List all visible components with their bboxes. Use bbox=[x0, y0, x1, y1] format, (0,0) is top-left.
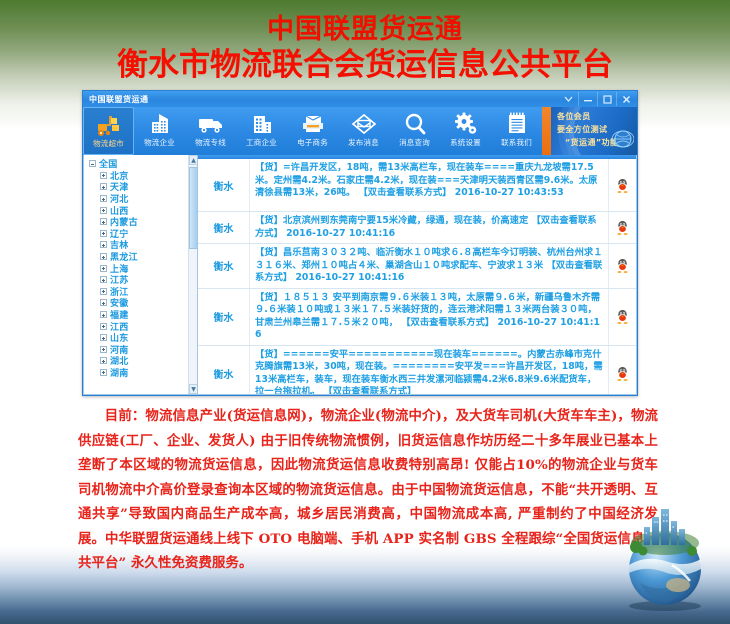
city-globe-graphic bbox=[610, 507, 720, 612]
close-icon[interactable] bbox=[616, 92, 635, 106]
envelope-icon bbox=[351, 110, 377, 137]
tree-expander-icon[interactable] bbox=[100, 253, 107, 260]
row-city: 衡水 bbox=[198, 289, 250, 345]
row-timestamp: 2016-10-27 10:41:16 bbox=[286, 228, 395, 239]
tree-expander-icon[interactable] bbox=[89, 160, 96, 167]
toolbar-item-logistics-market[interactable]: 物流超市 bbox=[83, 107, 134, 155]
region-tree-list: 全国 北京 天津 河北 山西 内蒙古 辽宁 吉林 黑龙江 上海 江苏 浙江 安徽… bbox=[84, 155, 197, 378]
scroll-down-icon[interactable]: ▼ bbox=[189, 384, 198, 394]
row-message: 【货】北京滨州到东莞南宁要15米冷藏，绿通，现在装，价高速定 【双击查看联系方式… bbox=[250, 212, 608, 243]
toolbar-item-system-settings[interactable]: 系统设置 bbox=[440, 107, 491, 155]
row-city: 衡水 bbox=[198, 212, 250, 243]
tree-node-shanghai[interactable]: 上海 bbox=[86, 262, 197, 274]
table-row[interactable]: 衡水 【货】======安平===========现在装车======。内蒙古赤… bbox=[198, 346, 636, 396]
tree-expander-icon[interactable] bbox=[100, 195, 107, 202]
qq-penguin-icon[interactable] bbox=[608, 346, 636, 396]
minimize-icon[interactable] bbox=[578, 92, 597, 106]
toolbar-item-publish-message[interactable]: 发布消息 bbox=[338, 107, 389, 155]
table-row[interactable]: 衡水 【货】北京滨州到东莞南宁要15米冷藏，绿通，现在装，价高速定 【双击查看联… bbox=[198, 212, 636, 244]
qq-penguin-icon[interactable] bbox=[608, 289, 636, 345]
scroll-up-icon[interactable]: ▲ bbox=[189, 155, 198, 165]
tree-expander-icon[interactable] bbox=[100, 183, 107, 190]
tree-node-jiangsu[interactable]: 江苏 bbox=[86, 274, 197, 286]
tree-node-zhejiang[interactable]: 浙江 bbox=[86, 286, 197, 298]
window-title-bar[interactable]: 中国联盟货运通 bbox=[83, 91, 637, 107]
message-grid: 衡水 【货】=许昌开发区，18吨，需13米高栏车，现在装车====重庆九龙坡需1… bbox=[198, 155, 637, 395]
window-controls bbox=[559, 91, 635, 107]
window-body: 全国 北京 天津 河北 山西 内蒙古 辽宁 吉林 黑龙江 上海 江苏 浙江 安徽… bbox=[83, 155, 637, 395]
tree-node-hubei[interactable]: 湖北 bbox=[86, 355, 197, 367]
headline-line-1: 中国联盟货运通 bbox=[0, 14, 730, 46]
toolbar-item-label: 电子商务 bbox=[297, 138, 328, 148]
truck-icon bbox=[198, 110, 224, 137]
tree-expander-icon[interactable] bbox=[100, 288, 107, 295]
toolbar-item-label: 系统设置 bbox=[450, 138, 481, 148]
headline-line-2: 衡水市物流联合会货运信息公共平台 bbox=[0, 46, 730, 84]
tree-node-inner-mongolia[interactable]: 内蒙古 bbox=[86, 216, 197, 228]
row-message: 【货】１８５１３ 安平到南京需９.６米装１３吨，太原需９.６米，新疆乌鲁木齐需９… bbox=[250, 289, 608, 345]
scrollbar-thumb[interactable] bbox=[189, 167, 198, 249]
tree-node-anhui[interactable]: 安徽 bbox=[86, 297, 197, 309]
toolbar-item-label: 消息查询 bbox=[399, 138, 430, 148]
tree-node-hunan[interactable]: 湖南 bbox=[86, 367, 197, 379]
toolbar-item-message-query[interactable]: 消息查询 bbox=[389, 107, 440, 155]
qq-penguin-icon[interactable] bbox=[608, 212, 636, 243]
printer-icon bbox=[300, 110, 326, 137]
toolbar-item-logistics-enterprise[interactable]: 物流企业 bbox=[134, 107, 185, 155]
row-city: 衡水 bbox=[198, 346, 250, 396]
tree-expander-icon[interactable] bbox=[100, 276, 107, 283]
toolbar-item-label: 物流专线 bbox=[195, 138, 226, 148]
row-message: 【货】=许昌开发区，18吨，需13米高栏车，现在装车====重庆九龙坡需17.5… bbox=[250, 159, 608, 211]
tree-node-henan[interactable]: 河南 bbox=[86, 344, 197, 356]
office-icon bbox=[250, 110, 274, 137]
building-icon bbox=[148, 110, 172, 137]
main-toolbar: 物流超市 bbox=[83, 107, 637, 155]
tree-node-label: 湖南 bbox=[110, 366, 129, 379]
tree-expander-icon[interactable] bbox=[100, 172, 107, 179]
tree-node-heilongjiang[interactable]: 黑龙江 bbox=[86, 251, 197, 263]
globe-icon bbox=[612, 127, 634, 153]
tree-expander-icon[interactable] bbox=[100, 265, 107, 272]
magnifier-icon bbox=[403, 110, 427, 137]
page-root: 中国联盟货运通 衡水市物流联合会货运信息公共平台 中国联盟货运通 bbox=[0, 0, 730, 624]
tree-node-beijing[interactable]: 北京 bbox=[86, 170, 197, 182]
tree-expander-icon[interactable] bbox=[100, 311, 107, 318]
toolbar-item-contact-us[interactable]: 联系我们 bbox=[491, 107, 542, 155]
toolbar-item-label: 联系我们 bbox=[501, 138, 532, 148]
tree-expander-icon[interactable] bbox=[100, 323, 107, 330]
tree-expander-icon[interactable] bbox=[100, 241, 107, 248]
tree-node-liaoning[interactable]: 辽宁 bbox=[86, 228, 197, 240]
tree-expander-icon[interactable] bbox=[100, 299, 107, 306]
tree-scrollbar[interactable]: ▲ ▼ bbox=[188, 155, 197, 394]
tree-node-hebei[interactable]: 河北 bbox=[86, 193, 197, 205]
qq-penguin-icon[interactable] bbox=[608, 159, 636, 211]
tree-expander-icon[interactable] bbox=[100, 346, 107, 353]
tree-node-fujian[interactable]: 福建 bbox=[86, 309, 197, 321]
page-title: 中国联盟货运通 衡水市物流联合会货运信息公共平台 bbox=[0, 14, 730, 84]
banner-line-1: 各位会员 bbox=[557, 110, 637, 123]
forklift-icon bbox=[96, 111, 122, 138]
qq-penguin-icon[interactable] bbox=[608, 244, 636, 288]
toolbar-item-label: 工商企业 bbox=[246, 138, 277, 148]
row-city: 衡水 bbox=[198, 244, 250, 288]
dropdown-icon[interactable] bbox=[559, 92, 578, 106]
tree-node-shandong[interactable]: 山东 bbox=[86, 332, 197, 344]
tree-expander-icon[interactable] bbox=[100, 218, 107, 225]
tree-node-shanxi[interactable]: 山西 bbox=[86, 204, 197, 216]
toolbar-item-ecommerce[interactable]: 电子商务 bbox=[287, 107, 338, 155]
row-city: 衡水 bbox=[198, 159, 250, 211]
tree-node-jiangxi[interactable]: 江西 bbox=[86, 320, 197, 332]
tree-expander-icon[interactable] bbox=[100, 207, 107, 214]
row-message: 【货】昌乐莒南３０３２吨、临沂衡水１０吨求６.８高栏车今订明装、杭州台州求１３１… bbox=[250, 244, 608, 288]
row-message-text: 【货】======安平===========现在装车======。内蒙古赤峰市克… bbox=[255, 349, 603, 396]
tree-node-tianjin[interactable]: 天津 bbox=[86, 181, 197, 193]
tree-expander-icon[interactable] bbox=[100, 357, 107, 364]
tree-expander-icon[interactable] bbox=[100, 369, 107, 376]
toolbar-item-industrial-enterprise[interactable]: 工商企业 bbox=[236, 107, 287, 155]
maximize-icon[interactable] bbox=[597, 92, 616, 106]
application-window: 中国联盟货运通 bbox=[82, 90, 638, 396]
tree-expander-icon[interactable] bbox=[100, 334, 107, 341]
toolbar-item-label: 发布消息 bbox=[348, 138, 379, 148]
table-row[interactable]: 衡水 【货】１８５１３ 安平到南京需９.６米装１３吨，太原需９.６米，新疆乌鲁木… bbox=[198, 289, 636, 346]
tree-node-jilin[interactable]: 吉林 bbox=[86, 239, 197, 251]
toolbar-orange-divider bbox=[542, 107, 551, 155]
table-row[interactable]: 衡水 【货】昌乐莒南３０３２吨、临沂衡水１０吨求６.８高栏车今订明装、杭州台州求… bbox=[198, 244, 636, 289]
table-row[interactable]: 衡水 【货】=许昌开发区，18吨，需13米高栏车，现在装车====重庆九龙坡需1… bbox=[198, 159, 636, 212]
window-title: 中国联盟货运通 bbox=[89, 94, 149, 105]
toolbar-item-label: 物流超市 bbox=[93, 139, 124, 149]
toolbar-item-logistics-line[interactable]: 物流专线 bbox=[185, 107, 236, 155]
tree-node-root[interactable]: 全国 bbox=[86, 158, 197, 170]
toolbar-item-label: 物流企业 bbox=[144, 138, 175, 148]
promo-paragraph: 目前：物流信息产业(货运信息网)，物流企业(物流中介)，及大货车司机(大货车车主… bbox=[78, 404, 658, 576]
row-message: 【货】======安平===========现在装车======。内蒙古赤峰市克… bbox=[250, 346, 608, 396]
tree-expander-icon[interactable] bbox=[100, 230, 107, 237]
gear-icon bbox=[454, 110, 478, 137]
toolbar-promo-banner[interactable]: 各位会员 要全方位测试 “货运通”功能！ bbox=[551, 107, 637, 155]
region-tree-panel: 全国 北京 天津 河北 山西 内蒙古 辽宁 吉林 黑龙江 上海 江苏 浙江 安徽… bbox=[83, 155, 198, 395]
row-timestamp: 2016-10-27 10:41:16 bbox=[295, 272, 404, 283]
document-icon bbox=[506, 110, 528, 137]
row-timestamp: 2016-10-27 10:43:53 bbox=[455, 187, 564, 198]
